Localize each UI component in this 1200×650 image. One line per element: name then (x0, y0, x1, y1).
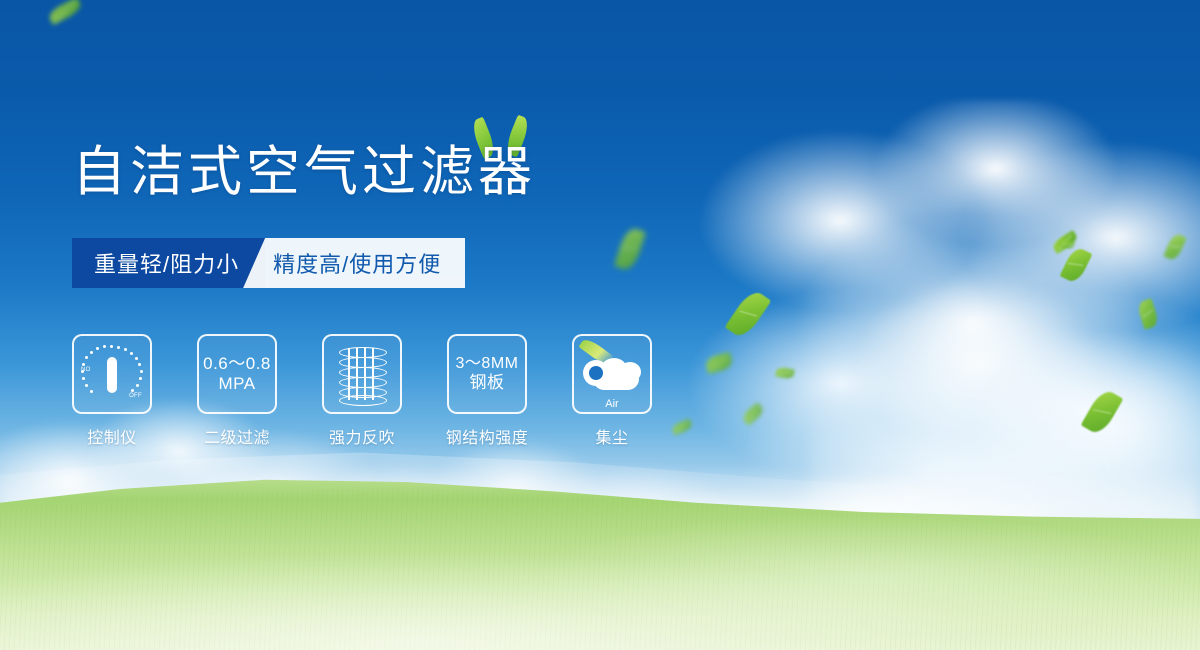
feature-item-dust-collection[interactable]: Air 集尘 (572, 334, 652, 448)
feature-icon-box: NO OFF (72, 334, 152, 414)
feature-label: 集尘 (595, 424, 628, 448)
dial-needle (107, 357, 117, 393)
feature-icon-box: Air (572, 334, 652, 414)
dial-on-label: NO (81, 367, 91, 373)
feature-label: 控制仪 (87, 424, 137, 448)
pressure-range-text: 0.6～0.8 (203, 354, 271, 374)
tag-lightweight-lowresistance: 重量轻/阻力小 (72, 238, 265, 288)
dial-off-label: OFF (129, 393, 142, 399)
subtitle-tags: 重量轻/阻力小 精度高/使用方便 (72, 238, 465, 288)
product-banner: 自洁式空气过滤器 重量轻/阻力小 精度高/使用方便 (0, 0, 1200, 650)
feature-icon-box (322, 334, 402, 414)
air-label: Air (581, 398, 643, 410)
steel-thickness-text: 3～8MM (456, 355, 519, 373)
feature-item-steel-strength[interactable]: 3～8MM 钢板 钢结构强度 (447, 334, 527, 448)
grass-path-highlight (0, 470, 1200, 650)
feature-list: NO OFF 控制仪 0.6～0.8 MPA 二级过滤 (72, 334, 652, 448)
feature-item-controller[interactable]: NO OFF 控制仪 (72, 334, 152, 448)
pressure-unit-text: MPA (218, 374, 255, 394)
feature-item-two-stage-filter[interactable]: 0.6～0.8 MPA 二级过滤 (197, 334, 277, 448)
tag-precision-easyuse: 精度高/使用方便 (243, 238, 465, 288)
steel-plate-text: 钢板 (470, 373, 505, 393)
feature-label: 强力反吹 (329, 424, 395, 448)
feature-label: 二级过滤 (204, 424, 270, 448)
air-cloud-icon: Air (581, 348, 643, 400)
filter-cartridge-icon (335, 344, 389, 404)
page-title: 自洁式空气过滤器 (72, 145, 536, 199)
feature-icon-box: 0.6～0.8 MPA (197, 334, 277, 414)
feature-label: 钢结构强度 (446, 424, 529, 448)
feature-item-strong-blowback[interactable]: 强力反吹 (322, 334, 402, 448)
feature-icon-box: 3～8MM 钢板 (447, 334, 527, 414)
dial-gauge-icon: NO OFF (81, 345, 143, 403)
